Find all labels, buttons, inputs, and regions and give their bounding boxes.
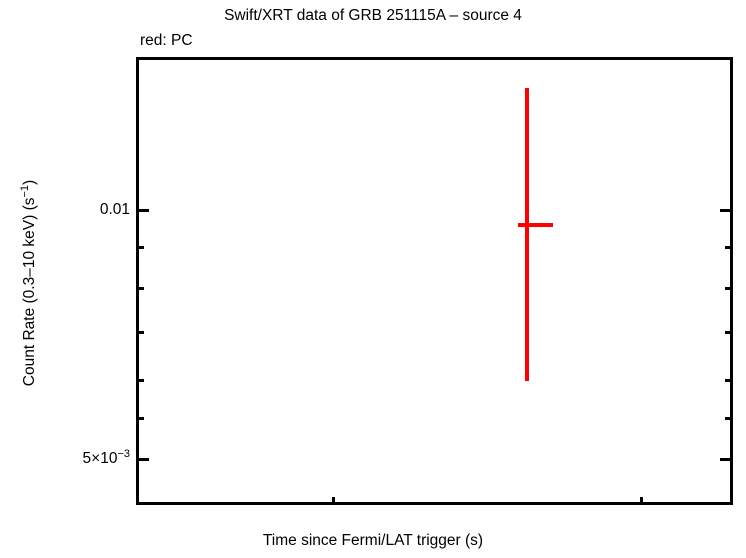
errorbar-horizontal: [518, 223, 553, 227]
y-axis-label-post: ): [21, 180, 38, 185]
errorbar-vertical: [525, 88, 529, 381]
y-axis-label: Count Rate (0.3–10 keV) (s−1): [21, 98, 39, 468]
y-axis-label-wrapper: Count Rate (0.3–10 keV) (s−1): [0, 0, 60, 558]
y-axis-label-pre: Count Rate (0.3–10 keV) (s: [21, 198, 38, 387]
chart-title: Swift/XRT data of GRB 251115A – source 4: [0, 7, 746, 25]
y-tick-label-exponent: −3: [117, 448, 130, 460]
plot-data-area: [136, 57, 733, 505]
y-axis-label-exponent: −1: [19, 185, 31, 198]
y-tick-label-0p01: 0.01: [20, 202, 130, 218]
y-tick-label-5e-3: 5×10−3: [20, 451, 130, 467]
x-axis-label: Time since Fermi/LAT trigger (s): [0, 531, 746, 550]
y-tick-label-mantissa: 5×10: [83, 450, 118, 467]
chart-figure: Swift/XRT data of GRB 251115A – source 4…: [0, 0, 746, 558]
legend-note: red: PC: [140, 32, 193, 50]
